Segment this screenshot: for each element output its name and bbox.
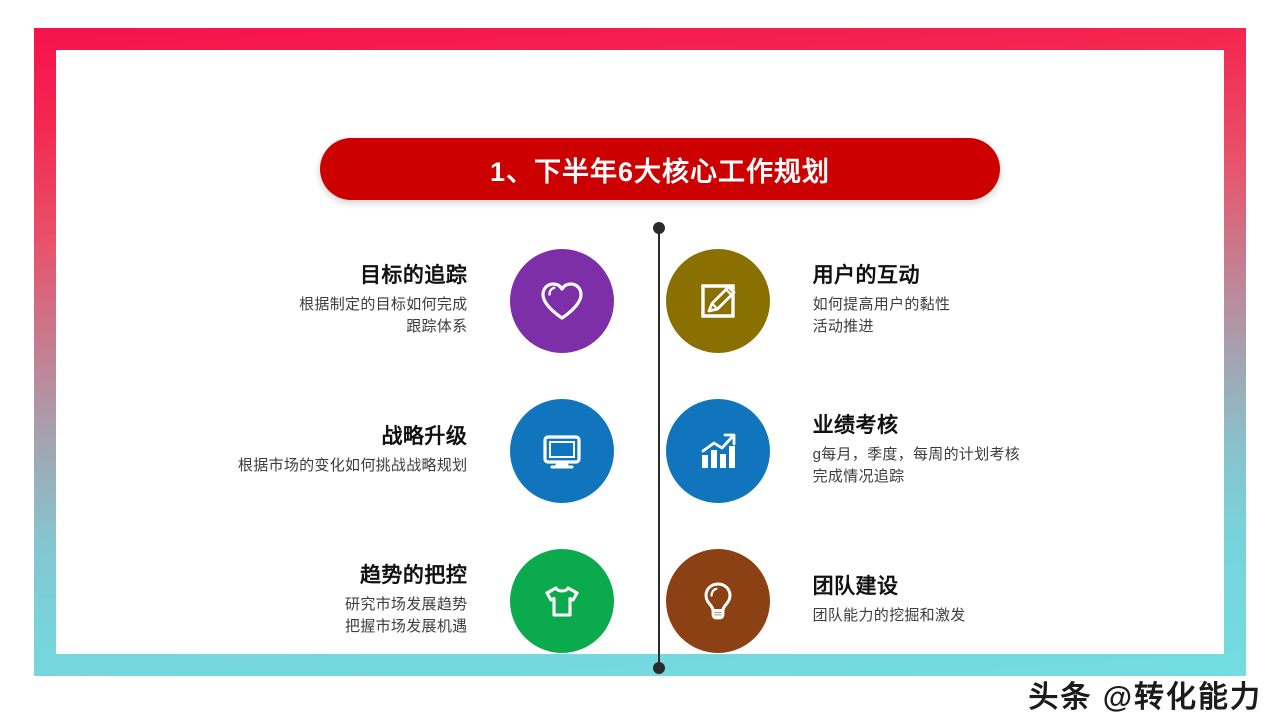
slide-gradient-frame: 1、下半年6大核心工作规划 目标的追踪 根据制定的目标如何完成 跟踪体系 (34, 28, 1246, 676)
icon-badge-lightbulb[interactable] (666, 549, 770, 653)
tshirt-icon (536, 575, 588, 627)
item-title: 趋势的把控 (360, 563, 468, 590)
icon-badge-tshirt[interactable] (510, 549, 614, 653)
item-text-left: 战略升级 根据市场的变化如何挑战战略规划 (56, 424, 483, 477)
icon-badge-chart[interactable] (666, 399, 770, 503)
content-row: 战略升级 根据市场的变化如何挑战战略规划 (56, 376, 1224, 526)
icon-cell-left (483, 399, 640, 503)
icon-badge-heart[interactable] (510, 249, 614, 353)
icon-cell-left (483, 249, 640, 353)
icon-cell-right (640, 399, 797, 503)
content-row: 目标的追踪 根据制定的目标如何完成 跟踪体系 (56, 226, 1224, 376)
item-desc-line: g每月，季度，每周的计划考核 (813, 444, 1021, 467)
icon-badge-edit[interactable] (666, 249, 770, 353)
item-desc-line: 根据制定的目标如何完成 (299, 294, 467, 317)
icon-badge-monitor[interactable] (510, 399, 614, 503)
monitor-icon (536, 425, 588, 477)
heart-icon (536, 275, 588, 327)
item-desc-line: 团队能力的挖掘和激发 (813, 605, 966, 628)
lightbulb-icon (692, 575, 744, 627)
watermark-label: 头条 @转化能力 (1028, 672, 1262, 716)
item-desc-line: 活动推进 (813, 316, 874, 339)
page-title: 1、下半年6大核心工作规划 (490, 150, 830, 189)
item-title: 用户的互动 (813, 263, 921, 290)
edit-square-icon (692, 275, 744, 327)
slide-canvas: 1、下半年6大核心工作规划 目标的追踪 根据制定的目标如何完成 跟踪体系 (56, 50, 1224, 654)
item-title: 团队建设 (813, 574, 899, 601)
item-desc-line: 完成情况追踪 (813, 466, 905, 489)
item-desc-line: 如何提高用户的黏性 (813, 294, 951, 317)
item-text-left: 目标的追踪 根据制定的目标如何完成 跟踪体系 (56, 263, 483, 339)
slide-title-pill: 1、下半年6大核心工作规划 (320, 138, 1000, 200)
item-desc-line: 研究市场发展趋势 (345, 594, 467, 617)
item-desc-line: 根据市场的变化如何挑战战略规划 (238, 455, 468, 478)
item-desc-line: 跟踪体系 (406, 316, 467, 339)
item-title: 业绩考核 (813, 413, 899, 440)
icon-cell-left (483, 549, 640, 653)
item-text-right: 团队建设 团队能力的挖掘和激发 (797, 574, 1224, 627)
content-rows: 目标的追踪 根据制定的目标如何完成 跟踪体系 (56, 226, 1224, 676)
item-title: 战略升级 (381, 424, 467, 451)
icon-cell-right (640, 549, 797, 653)
item-text-right: 业绩考核 g每月，季度，每周的计划考核 完成情况追踪 (797, 413, 1224, 489)
item-title: 目标的追踪 (360, 263, 468, 290)
item-text-right: 用户的互动 如何提高用户的黏性 活动推进 (797, 263, 1224, 339)
item-text-left: 趋势的把控 研究市场发展趋势 把握市场发展机遇 (56, 563, 483, 639)
item-desc-line: 把握市场发展机遇 (345, 616, 467, 639)
icon-cell-right (640, 249, 797, 353)
content-row: 趋势的把控 研究市场发展趋势 把握市场发展机遇 (56, 526, 1224, 676)
bar-chart-growth-icon (692, 425, 744, 477)
